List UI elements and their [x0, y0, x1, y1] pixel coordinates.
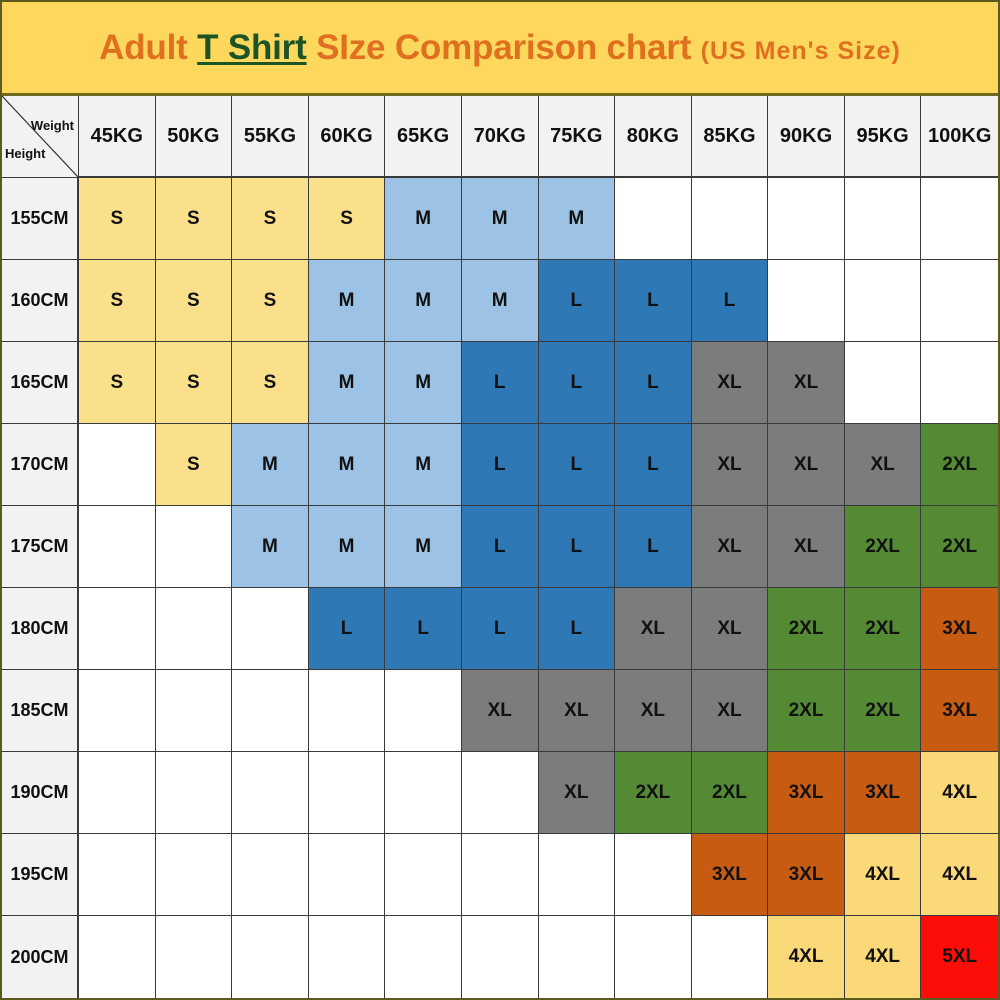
size-cell[interactable]: M: [309, 424, 386, 506]
row-header-height[interactable]: 175CM: [2, 506, 79, 588]
size-cell-empty[interactable]: [385, 916, 462, 998]
size-cell[interactable]: S: [79, 342, 156, 424]
size-cell[interactable]: 3XL: [768, 834, 845, 916]
size-cell-empty[interactable]: [156, 506, 233, 588]
size-cell-empty[interactable]: [309, 752, 386, 834]
size-cell[interactable]: 2XL: [692, 752, 769, 834]
column-header-weight[interactable]: 85KG: [692, 96, 769, 178]
size-cell[interactable]: L: [539, 588, 616, 670]
row-header-height[interactable]: 170CM: [2, 424, 79, 506]
size-cell-empty[interactable]: [156, 752, 233, 834]
size-cell[interactable]: L: [462, 342, 539, 424]
size-cell-empty[interactable]: [156, 588, 233, 670]
size-cell-empty[interactable]: [539, 916, 616, 998]
size-cell-empty[interactable]: [385, 670, 462, 752]
column-header-weight[interactable]: 75KG: [539, 96, 616, 178]
size-cell-empty[interactable]: [385, 834, 462, 916]
size-cell-empty[interactable]: [79, 752, 156, 834]
size-cell[interactable]: 2XL: [768, 588, 845, 670]
size-cell[interactable]: 3XL: [768, 752, 845, 834]
size-cell[interactable]: 2XL: [921, 424, 998, 506]
column-header-weight[interactable]: 45KG: [79, 96, 156, 178]
size-cell[interactable]: 4XL: [768, 916, 845, 998]
size-cell-empty[interactable]: [232, 670, 309, 752]
column-header-weight[interactable]: 80KG: [615, 96, 692, 178]
size-cell-empty[interactable]: [79, 588, 156, 670]
size-cell[interactable]: M: [232, 506, 309, 588]
size-cell-empty[interactable]: [156, 916, 233, 998]
size-cell-empty[interactable]: [921, 178, 998, 260]
size-cell-empty[interactable]: [79, 506, 156, 588]
size-cell-empty[interactable]: [921, 342, 998, 424]
size-cell[interactable]: XL: [692, 342, 769, 424]
row-header-height[interactable]: 185CM: [2, 670, 79, 752]
size-cell[interactable]: S: [79, 260, 156, 342]
size-cell[interactable]: XL: [845, 424, 922, 506]
size-cell[interactable]: XL: [539, 670, 616, 752]
diagonal-divider-icon: [2, 96, 78, 177]
size-cell[interactable]: 2XL: [921, 506, 998, 588]
size-cell[interactable]: L: [539, 506, 616, 588]
size-cell-empty[interactable]: [156, 834, 233, 916]
size-cell-empty[interactable]: [692, 178, 769, 260]
size-cell-empty[interactable]: [385, 752, 462, 834]
size-cell-empty[interactable]: [462, 834, 539, 916]
column-header-weight[interactable]: 60KG: [309, 96, 386, 178]
size-cell[interactable]: M: [309, 260, 386, 342]
size-cell[interactable]: S: [232, 342, 309, 424]
size-cell-empty[interactable]: [232, 834, 309, 916]
row-header-height[interactable]: 200CM: [2, 916, 79, 998]
corner-header-cell: WeightHeight: [2, 96, 79, 178]
size-cell[interactable]: 2XL: [615, 752, 692, 834]
size-cell[interactable]: L: [385, 588, 462, 670]
size-cell[interactable]: M: [309, 342, 386, 424]
size-cell-empty[interactable]: [768, 178, 845, 260]
size-cell-empty[interactable]: [615, 834, 692, 916]
size-cell[interactable]: L: [539, 260, 616, 342]
size-cell-empty[interactable]: [615, 916, 692, 998]
title-adult: Adult: [99, 28, 197, 67]
size-cell[interactable]: 3XL: [921, 670, 998, 752]
size-cell[interactable]: S: [79, 178, 156, 260]
size-cell-empty[interactable]: [921, 260, 998, 342]
size-cell[interactable]: M: [309, 506, 386, 588]
size-cell[interactable]: XL: [768, 506, 845, 588]
size-cell-empty[interactable]: [462, 752, 539, 834]
chart-title: Adult T Shirt SIze Comparison chart (US …: [99, 28, 901, 68]
size-cell[interactable]: M: [385, 506, 462, 588]
row-header-height[interactable]: 155CM: [2, 178, 79, 260]
column-header-weight[interactable]: 90KG: [768, 96, 845, 178]
size-cell-empty[interactable]: [309, 670, 386, 752]
size-cell[interactable]: L: [615, 260, 692, 342]
size-cell-empty[interactable]: [232, 916, 309, 998]
size-cell[interactable]: XL: [539, 752, 616, 834]
size-cell[interactable]: S: [156, 342, 233, 424]
column-header-weight[interactable]: 70KG: [462, 96, 539, 178]
size-cell[interactable]: XL: [615, 588, 692, 670]
size-cell[interactable]: 3XL: [845, 752, 922, 834]
size-cell-empty[interactable]: [79, 916, 156, 998]
size-cell[interactable]: XL: [692, 506, 769, 588]
height-axis-label: Height: [5, 146, 45, 161]
size-cell-empty[interactable]: [768, 260, 845, 342]
size-cell-empty[interactable]: [79, 670, 156, 752]
size-cell[interactable]: L: [539, 424, 616, 506]
size-cell[interactable]: S: [309, 178, 386, 260]
size-cell[interactable]: M: [462, 178, 539, 260]
column-header-weight[interactable]: 50KG: [156, 96, 233, 178]
size-cell[interactable]: L: [309, 588, 386, 670]
size-cell[interactable]: 2XL: [845, 670, 922, 752]
size-cell[interactable]: L: [462, 588, 539, 670]
row-header-height[interactable]: 190CM: [2, 752, 79, 834]
size-cell[interactable]: XL: [768, 342, 845, 424]
size-cell[interactable]: M: [539, 178, 616, 260]
size-cell[interactable]: L: [615, 424, 692, 506]
size-cell[interactable]: S: [156, 178, 233, 260]
row-header-height[interactable]: 180CM: [2, 588, 79, 670]
size-cell[interactable]: L: [462, 424, 539, 506]
size-cell-empty[interactable]: [232, 752, 309, 834]
size-cell[interactable]: L: [539, 342, 616, 424]
size-chart-page: Adult T Shirt SIze Comparison chart (US …: [0, 0, 1000, 1000]
size-cell[interactable]: M: [232, 424, 309, 506]
size-cell[interactable]: 5XL: [921, 916, 998, 998]
column-header-weight[interactable]: 55KG: [232, 96, 309, 178]
size-cell-empty[interactable]: [845, 342, 922, 424]
size-cell[interactable]: S: [156, 424, 233, 506]
row-header-height[interactable]: 165CM: [2, 342, 79, 424]
size-cell-empty[interactable]: [539, 834, 616, 916]
size-cell[interactable]: 4XL: [921, 752, 998, 834]
row-header-height[interactable]: 160CM: [2, 260, 79, 342]
size-cell[interactable]: XL: [692, 424, 769, 506]
size-cell[interactable]: L: [615, 342, 692, 424]
size-cell[interactable]: 3XL: [692, 834, 769, 916]
title-tshirt-highlight: T Shirt: [197, 28, 306, 67]
size-cell-empty[interactable]: [79, 834, 156, 916]
size-cell[interactable]: 4XL: [845, 916, 922, 998]
title-banner: Adult T Shirt SIze Comparison chart (US …: [2, 2, 998, 96]
title-us-mens-note: (US Men's Size): [701, 37, 901, 65]
size-cell[interactable]: 4XL: [845, 834, 922, 916]
size-cell[interactable]: XL: [615, 670, 692, 752]
size-cell-empty[interactable]: [156, 670, 233, 752]
size-cell-empty[interactable]: [462, 916, 539, 998]
size-cell[interactable]: 3XL: [921, 588, 998, 670]
size-cell[interactable]: 2XL: [845, 506, 922, 588]
size-cell[interactable]: M: [385, 260, 462, 342]
size-cell[interactable]: XL: [692, 588, 769, 670]
row-header-height[interactable]: 195CM: [2, 834, 79, 916]
size-cell[interactable]: 2XL: [768, 670, 845, 752]
size-cell[interactable]: S: [156, 260, 233, 342]
size-cell[interactable]: M: [385, 424, 462, 506]
size-cell[interactable]: XL: [462, 670, 539, 752]
size-cell-empty[interactable]: [615, 178, 692, 260]
size-cell[interactable]: M: [385, 178, 462, 260]
size-cell[interactable]: L: [462, 506, 539, 588]
weight-axis-label: Weight: [31, 118, 74, 133]
size-cell[interactable]: 2XL: [845, 588, 922, 670]
size-cell[interactable]: XL: [692, 670, 769, 752]
size-cell-empty[interactable]: [309, 916, 386, 998]
size-cell[interactable]: M: [462, 260, 539, 342]
size-cell-empty[interactable]: [845, 178, 922, 260]
size-chart-grid: WeightHeight45KG50KG55KG60KG65KG70KG75KG…: [2, 96, 998, 998]
column-header-weight[interactable]: 95KG: [845, 96, 922, 178]
column-header-weight[interactable]: 65KG: [385, 96, 462, 178]
title-size-comparison: SIze Comparison chart: [307, 28, 701, 67]
column-header-weight[interactable]: 100KG: [921, 96, 998, 178]
size-cell[interactable]: L: [692, 260, 769, 342]
size-cell-empty[interactable]: [692, 916, 769, 998]
size-cell-empty[interactable]: [79, 424, 156, 506]
size-cell-empty[interactable]: [232, 588, 309, 670]
size-cell-empty[interactable]: [845, 260, 922, 342]
size-cell-empty[interactable]: [309, 834, 386, 916]
size-cell[interactable]: XL: [768, 424, 845, 506]
size-cell[interactable]: 4XL: [921, 834, 998, 916]
size-cell[interactable]: M: [385, 342, 462, 424]
size-cell[interactable]: S: [232, 260, 309, 342]
size-cell[interactable]: L: [615, 506, 692, 588]
size-cell[interactable]: S: [232, 178, 309, 260]
